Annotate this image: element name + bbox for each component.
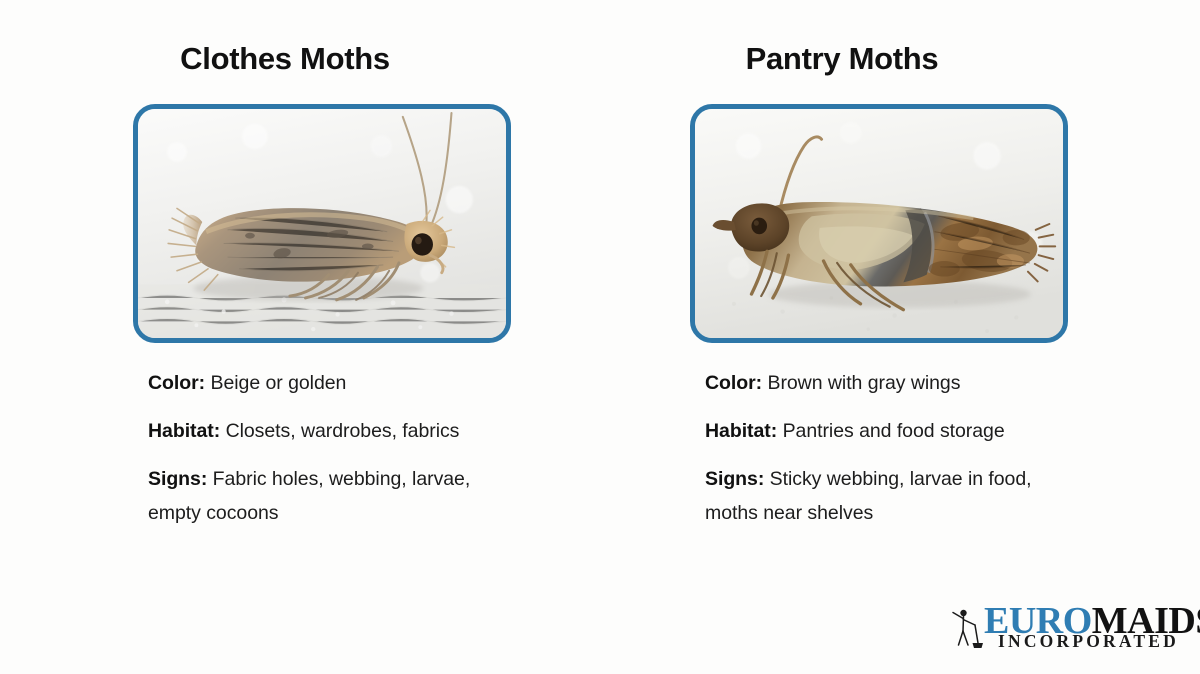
fact-habitat: Habitat: Pantries and food storage (705, 414, 1055, 448)
column-clothes-moths: Clothes Moths (55, 0, 535, 674)
photo-card-pantry-moths (690, 104, 1068, 343)
fact-value: Pantries and food storage (783, 420, 1005, 442)
maid-with-mop-icon (948, 605, 984, 651)
page-title-pantry-moths: Pantry Moths (612, 41, 1072, 77)
fact-habitat: Habitat: Closets, wardrobes, fabrics (148, 414, 498, 448)
fact-key: Signs: (705, 468, 764, 490)
brand-logo: EUROMAIDS INCORPORATED (948, 601, 1192, 657)
fact-color: Color: Brown with gray wings (705, 366, 1055, 400)
fact-key: Color: (705, 372, 762, 394)
fact-list-clothes-moths: Color: Beige or golden Habitat: Closets,… (148, 366, 498, 530)
column-pantry-moths: Pantry Moths (612, 0, 1092, 674)
photo-card-clothes-moths (133, 104, 511, 343)
fact-key: Habitat: (705, 420, 777, 442)
fact-key: Signs: (148, 468, 207, 490)
fact-key: Color: (148, 372, 205, 394)
fact-value: Brown with gray wings (767, 372, 960, 394)
pantry-moth-photo (695, 109, 1063, 338)
fact-signs: Signs: Fabric holes, webbing, larvae, em… (148, 462, 498, 530)
slide-root: Clothes Moths (0, 0, 1200, 674)
fact-value: Closets, wardrobes, fabrics (226, 420, 460, 442)
fact-key: Habitat: (148, 420, 220, 442)
fact-value: Beige or golden (210, 372, 346, 394)
logo-wordmark: EUROMAIDS INCORPORATED (984, 601, 1192, 657)
fact-list-pantry-moths: Color: Brown with gray wings Habitat: Pa… (705, 366, 1055, 530)
fact-signs: Signs: Sticky webbing, larvae in food, m… (705, 462, 1055, 530)
fact-color: Color: Beige or golden (148, 366, 498, 400)
logo-tagline: INCORPORATED (998, 631, 1179, 652)
page-title-clothes-moths: Clothes Moths (55, 41, 515, 77)
clothes-moth-photo (138, 109, 506, 338)
